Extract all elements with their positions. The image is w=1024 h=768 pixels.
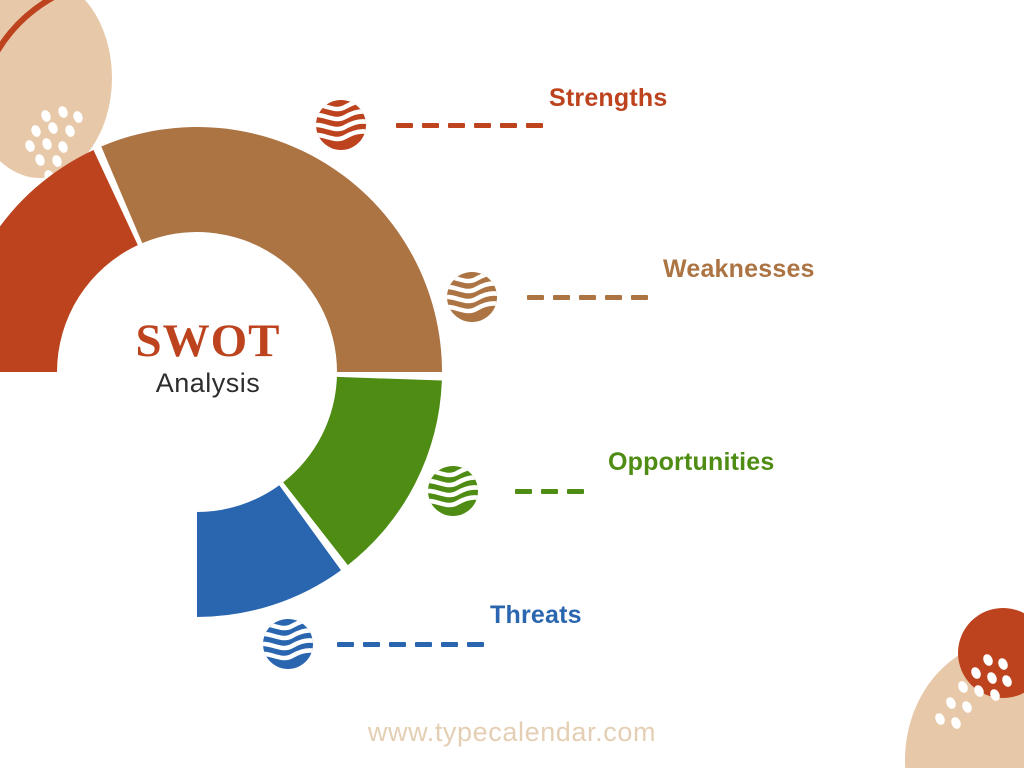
- dash-segment: [515, 489, 532, 494]
- dash-segment: [526, 123, 543, 128]
- swot-diagram-canvas: SWOT Analysis StrengthsWeaknessesOpportu…: [0, 0, 1024, 768]
- striped-globe-icon: [260, 616, 316, 672]
- legend-label-threats[interactable]: Threats: [490, 601, 582, 630]
- legend-item-weaknesses[interactable]: [444, 269, 648, 325]
- dash-segment: [363, 642, 380, 647]
- dash-segment: [396, 123, 413, 128]
- page-subtitle: Analysis: [118, 368, 298, 399]
- dash-segment: [441, 642, 458, 647]
- legend-connector-dashes: [515, 463, 584, 519]
- dash-segment: [553, 295, 570, 300]
- dash-segment: [474, 123, 491, 128]
- dash-segment: [448, 123, 465, 128]
- legend-label-strengths[interactable]: Strengths: [549, 84, 667, 113]
- legend-connector-dashes: [527, 269, 648, 325]
- legend-item-strengths[interactable]: [313, 97, 543, 153]
- legend-item-threats[interactable]: [260, 616, 484, 672]
- page-title: SWOT: [118, 318, 298, 366]
- dash-segment: [389, 642, 406, 647]
- dash-segment: [337, 642, 354, 647]
- dash-segment: [579, 295, 596, 300]
- legend-label-weaknesses[interactable]: Weaknesses: [663, 255, 815, 284]
- striped-globe-icon: [444, 269, 500, 325]
- dash-segment: [467, 642, 484, 647]
- dash-segment: [605, 295, 622, 300]
- footer-url: www.typecalendar.com: [0, 717, 1024, 748]
- legend-connector-dashes: [396, 97, 543, 153]
- dash-segment: [541, 489, 558, 494]
- striped-globe-icon: [425, 463, 481, 519]
- dash-segment: [567, 489, 584, 494]
- chart-center-label: SWOT Analysis: [118, 318, 298, 399]
- legend-label-opportunities[interactable]: Opportunities: [608, 448, 774, 477]
- dash-segment: [631, 295, 648, 300]
- striped-globe-icon: [313, 97, 369, 153]
- legend-item-opportunities[interactable]: [425, 463, 584, 519]
- dash-segment: [415, 642, 432, 647]
- dash-segment: [500, 123, 517, 128]
- legend-connector-dashes: [337, 616, 484, 672]
- dash-segment: [422, 123, 439, 128]
- dash-segment: [527, 295, 544, 300]
